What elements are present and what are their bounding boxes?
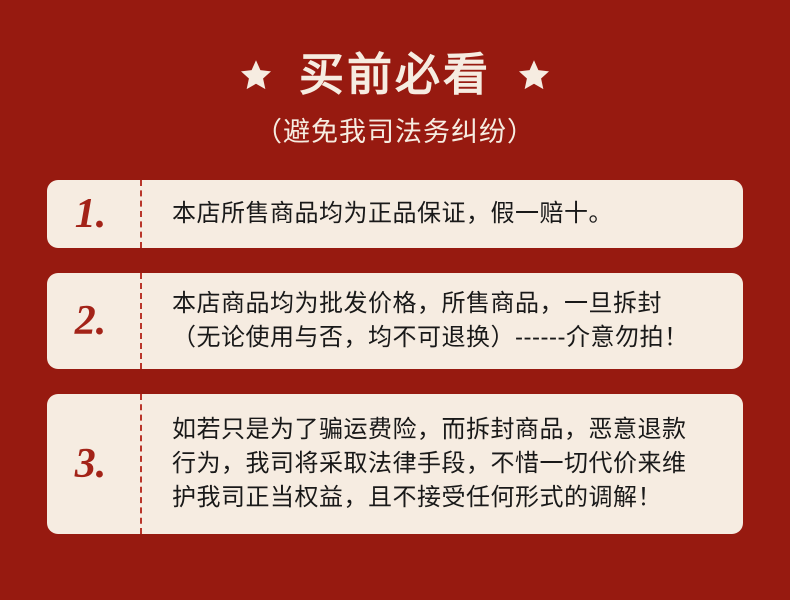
item-body: 本店商品均为批发价格，所售商品，一旦拆封 （无论使用与否，均不可退换）-----… (142, 273, 743, 369)
star-right-icon (517, 58, 551, 92)
item-number: 2. (47, 273, 142, 369)
item-line: 本店所售商品均为正品保证，假一赔十。 (172, 197, 721, 231)
list-item: 2. 本店商品均为批发价格，所售商品，一旦拆封 （无论使用与否，均不可退换）--… (47, 273, 743, 369)
notice-list: 1. 本店所售商品均为正品保证，假一赔十。 2. 本店商品均为批发价格，所售商品… (0, 180, 790, 534)
promo-banner: 买前必看 （避免我司法务纠纷） 1. 本店所售商品均为正品保证，假一赔十。 2.… (0, 0, 790, 600)
item-line: 如若只是为了骗运费险，而拆封商品，恶意退款 (172, 413, 721, 447)
star-left-icon (239, 58, 273, 92)
list-item: 3. 如若只是为了骗运费险，而拆封商品，恶意退款 行为，我司将采取法律手段，不惜… (47, 394, 743, 534)
page-subtitle: （避免我司法务纠纷） (0, 118, 790, 148)
item-line: （无论使用与否，均不可退换）------介意勿拍！ (172, 321, 721, 355)
item-line: 行为，我司将采取法律手段，不惜一切代价来维 (172, 447, 721, 481)
item-body: 如若只是为了骗运费险，而拆封商品，恶意退款 行为，我司将采取法律手段，不惜一切代… (142, 394, 743, 534)
banner-header: 买前必看 （避免我司法务纠纷） (0, 0, 790, 148)
item-number: 1. (47, 180, 142, 248)
item-line: 本店商品均为批发价格，所售商品，一旦拆封 (172, 287, 721, 321)
item-line: 护我司正当权益，且不接受任何形式的调解！ (172, 481, 721, 515)
list-item: 1. 本店所售商品均为正品保证，假一赔十。 (47, 180, 743, 248)
page-title: 买前必看 (299, 51, 491, 98)
item-number: 3. (47, 394, 142, 534)
item-body: 本店所售商品均为正品保证，假一赔十。 (142, 180, 743, 248)
title-row: 买前必看 (0, 44, 790, 106)
